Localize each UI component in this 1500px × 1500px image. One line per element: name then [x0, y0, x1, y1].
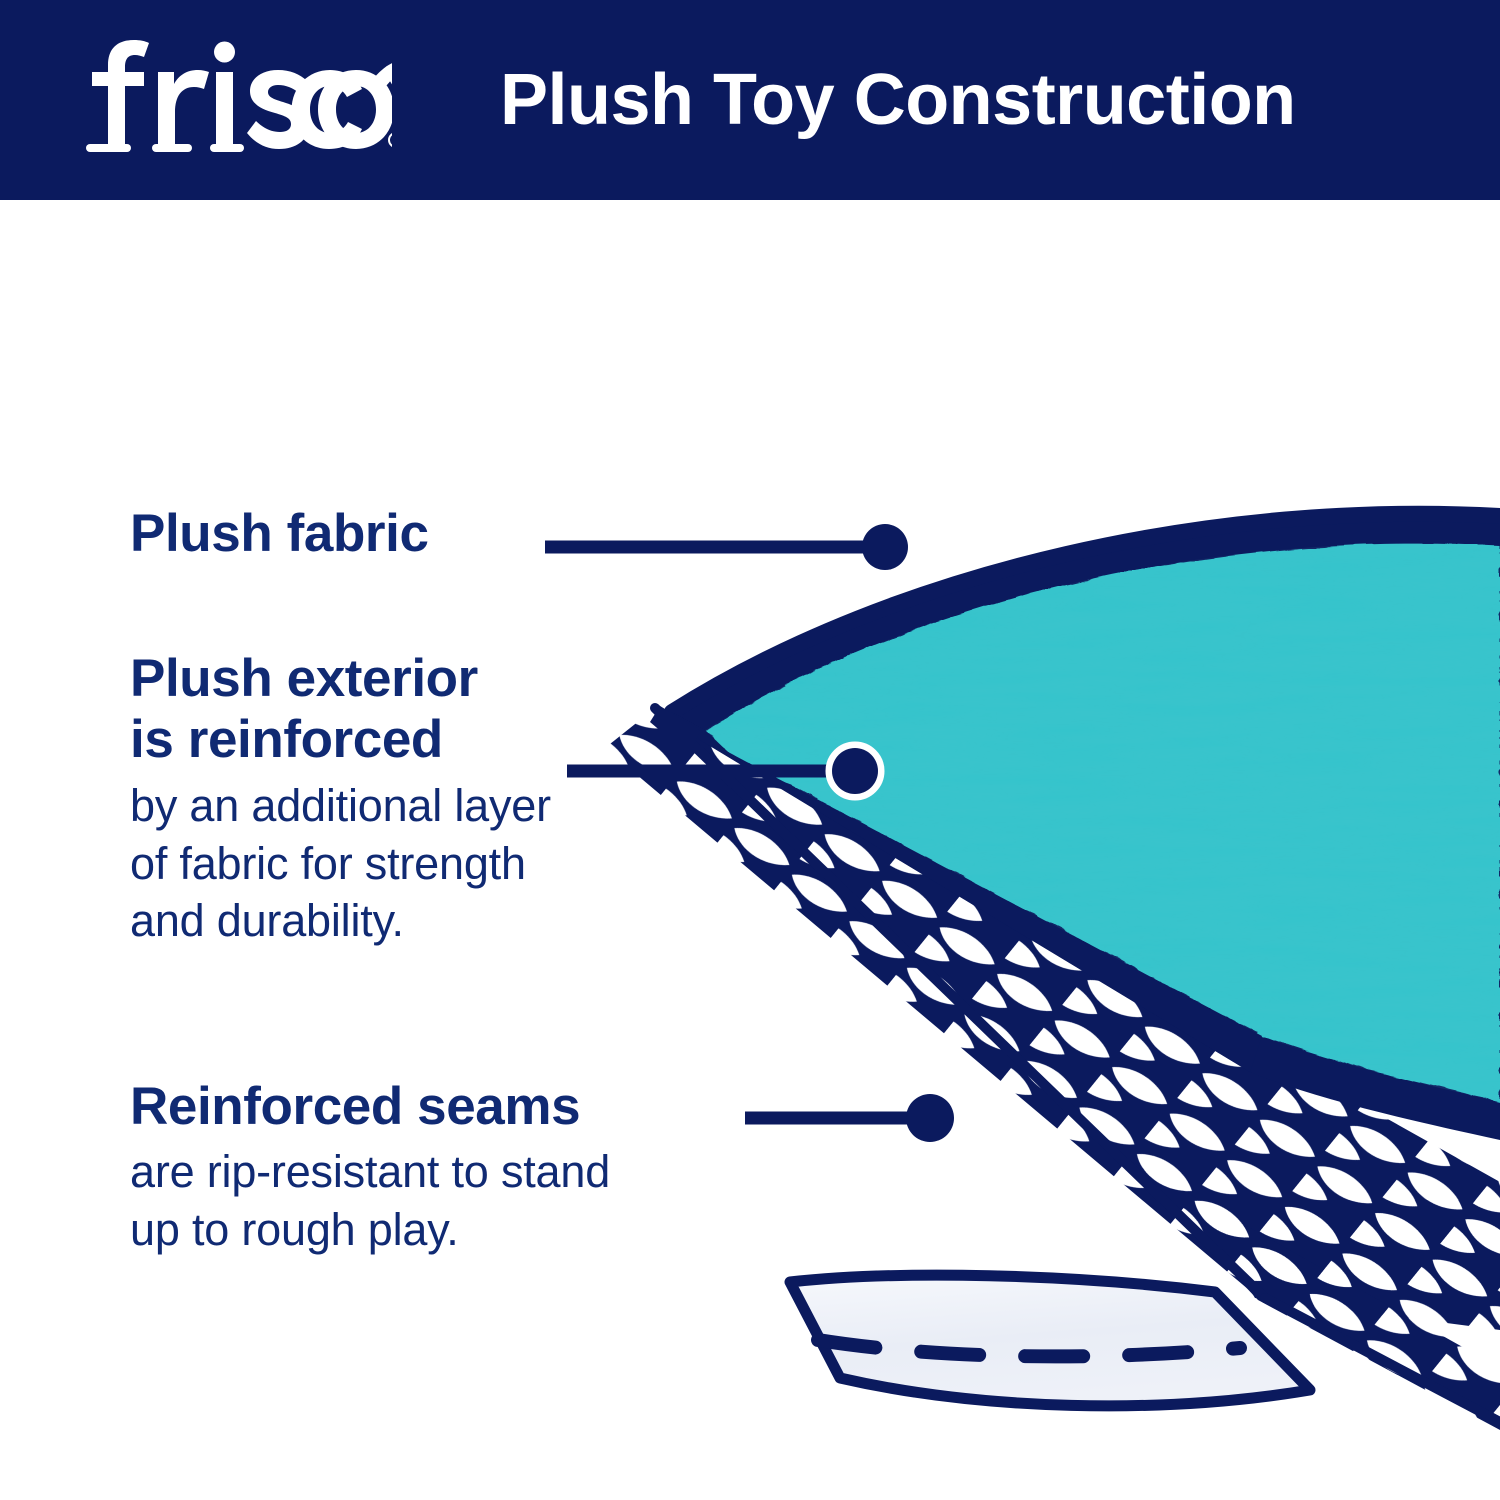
leader-plush-fabric	[545, 524, 908, 570]
frisco-logo: ® frisco	[72, 36, 392, 156]
leader-dot-plush-exterior	[832, 748, 878, 794]
callout-heading-plush-exterior: Plush exterior is reinforced	[130, 648, 551, 771]
callout-plush-exterior: Plush exterior is reinforced by an addit…	[130, 648, 551, 950]
page-title: Plush Toy Construction	[500, 0, 1296, 200]
reinforced-seam-flap	[790, 1275, 1310, 1406]
leader-dot-reinforced-seams	[906, 1094, 954, 1142]
callout-heading-plush-fabric: Plush fabric	[130, 503, 429, 564]
callout-plush-fabric: Plush fabric	[130, 503, 429, 564]
leader-dot-plush-fabric	[862, 524, 908, 570]
callout-reinforced-seams: Reinforced seams are rip-resistant to st…	[130, 1076, 610, 1259]
callout-body-plush-exterior: by an additional layer of fabric for str…	[130, 777, 551, 950]
leader-reinforced-seams	[745, 1094, 954, 1142]
infographic-page: ® frisco Plush Toy Construction	[0, 0, 1500, 1500]
header-bar: ® frisco Plush Toy Construction	[0, 0, 1500, 200]
callout-heading-reinforced-seams: Reinforced seams	[130, 1076, 610, 1137]
callout-body-reinforced-seams: are rip-resistant to stand up to rough p…	[130, 1143, 610, 1258]
